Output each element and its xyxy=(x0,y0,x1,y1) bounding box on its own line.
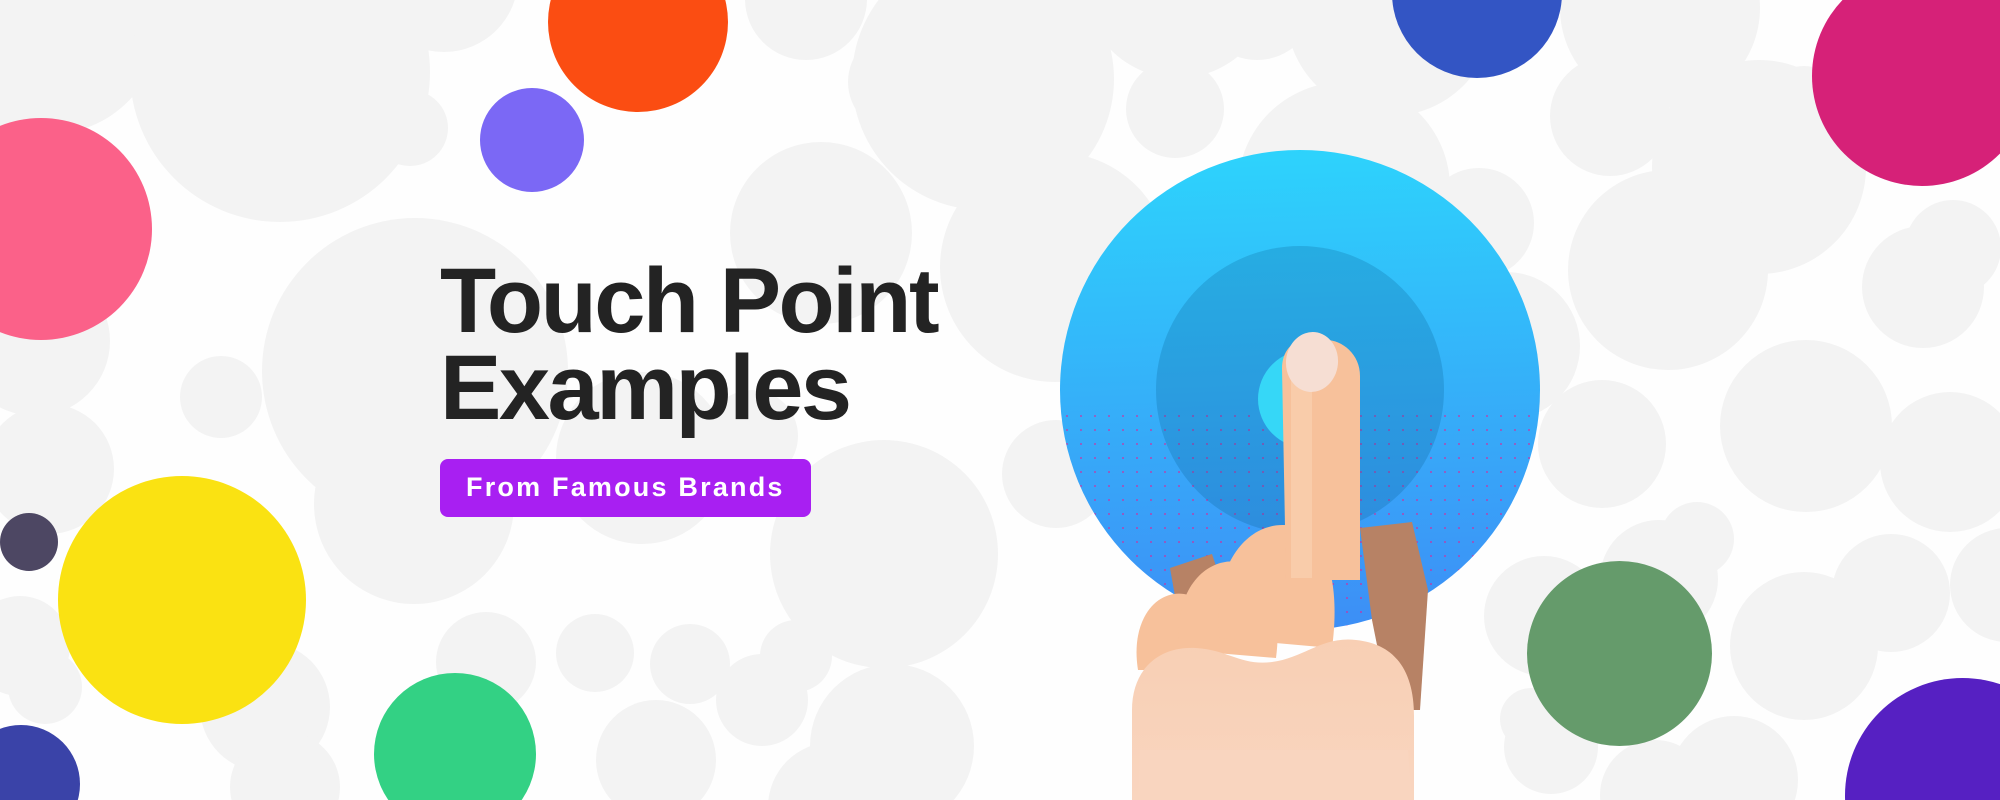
decor-bubble xyxy=(1878,70,1962,154)
decor-bubble xyxy=(1720,340,1892,512)
circle-magenta-right xyxy=(1812,0,2000,186)
decor-bubble xyxy=(130,0,430,222)
decor-bubble xyxy=(1880,392,2000,532)
circle-periwinkle-top xyxy=(480,88,584,192)
circle-royalblue-top xyxy=(1392,0,1562,78)
circle-violet-corner xyxy=(1845,678,2000,800)
decor-bubble xyxy=(556,614,634,692)
pointing-hand-icon xyxy=(1060,150,1540,800)
page-title: Touch Point Examples xyxy=(440,258,1060,433)
headline-block: Touch Point Examples From Famous Brands xyxy=(440,258,1060,517)
touch-illustration xyxy=(1060,150,1540,800)
decor-bubble xyxy=(1652,60,1866,274)
decor-bubble xyxy=(370,0,518,52)
decor-bubble xyxy=(1760,66,1848,154)
decor-bubble xyxy=(1600,520,1718,638)
decor-bubble xyxy=(0,266,110,416)
circle-orange-top xyxy=(548,0,728,112)
decor-bubble xyxy=(1832,534,1950,652)
decor-bubble xyxy=(760,620,832,692)
decor-bubble xyxy=(1538,380,1666,508)
decor-bubble xyxy=(8,650,82,724)
decor-bubble xyxy=(716,654,808,746)
decor-bubble xyxy=(1286,0,1494,116)
decor-bubble xyxy=(180,356,262,438)
decor-bubble xyxy=(0,596,70,696)
decor-bubble xyxy=(566,0,726,42)
decor-bubble xyxy=(1944,0,2000,60)
decor-bubble xyxy=(1126,60,1224,158)
decor-bubble xyxy=(1660,502,1734,576)
decor-bubble xyxy=(1084,0,1272,78)
title-line-2: Examples xyxy=(440,345,1060,432)
decor-bubble xyxy=(1670,716,1798,800)
decor-bubble xyxy=(650,624,730,704)
decor-bubble xyxy=(1560,0,1760,108)
decor-bubble xyxy=(1905,200,2000,296)
decor-bubble xyxy=(848,30,952,134)
circle-slate-small xyxy=(0,513,58,571)
circle-pink-left xyxy=(0,118,152,340)
decor-bubble xyxy=(0,120,52,236)
banner-canvas: Touch Point Examples From Famous Brands xyxy=(0,0,2000,800)
circle-emerald-bottom xyxy=(374,673,536,800)
hand-wrist xyxy=(1138,750,1412,800)
decor-bubble xyxy=(1730,572,1878,720)
decor-bubble xyxy=(200,642,330,772)
circle-sage-right xyxy=(1527,561,1712,746)
decor-bubble xyxy=(810,664,974,800)
decor-bubble xyxy=(1198,0,1316,60)
decor-bubble xyxy=(768,742,898,800)
decor-bubble xyxy=(1862,226,1984,348)
decor-bubble xyxy=(1568,170,1768,370)
circle-yellow-left xyxy=(58,476,306,724)
decor-bubble xyxy=(0,0,160,134)
title-line-1: Touch Point xyxy=(440,258,1060,345)
decor-bubble xyxy=(1600,740,1710,800)
decor-bubble xyxy=(1950,528,2000,642)
subtitle-badge: From Famous Brands xyxy=(440,459,811,517)
decor-bubble xyxy=(745,0,867,60)
decor-bubble xyxy=(0,404,114,534)
decor-bubble xyxy=(230,732,340,800)
decor-bubble xyxy=(1008,0,1110,12)
circle-indigo-bottom xyxy=(0,725,80,800)
decor-bubble xyxy=(436,612,536,712)
decor-bubble xyxy=(372,90,448,166)
decor-bubble xyxy=(1550,56,1670,176)
decor-bubble xyxy=(596,700,716,800)
